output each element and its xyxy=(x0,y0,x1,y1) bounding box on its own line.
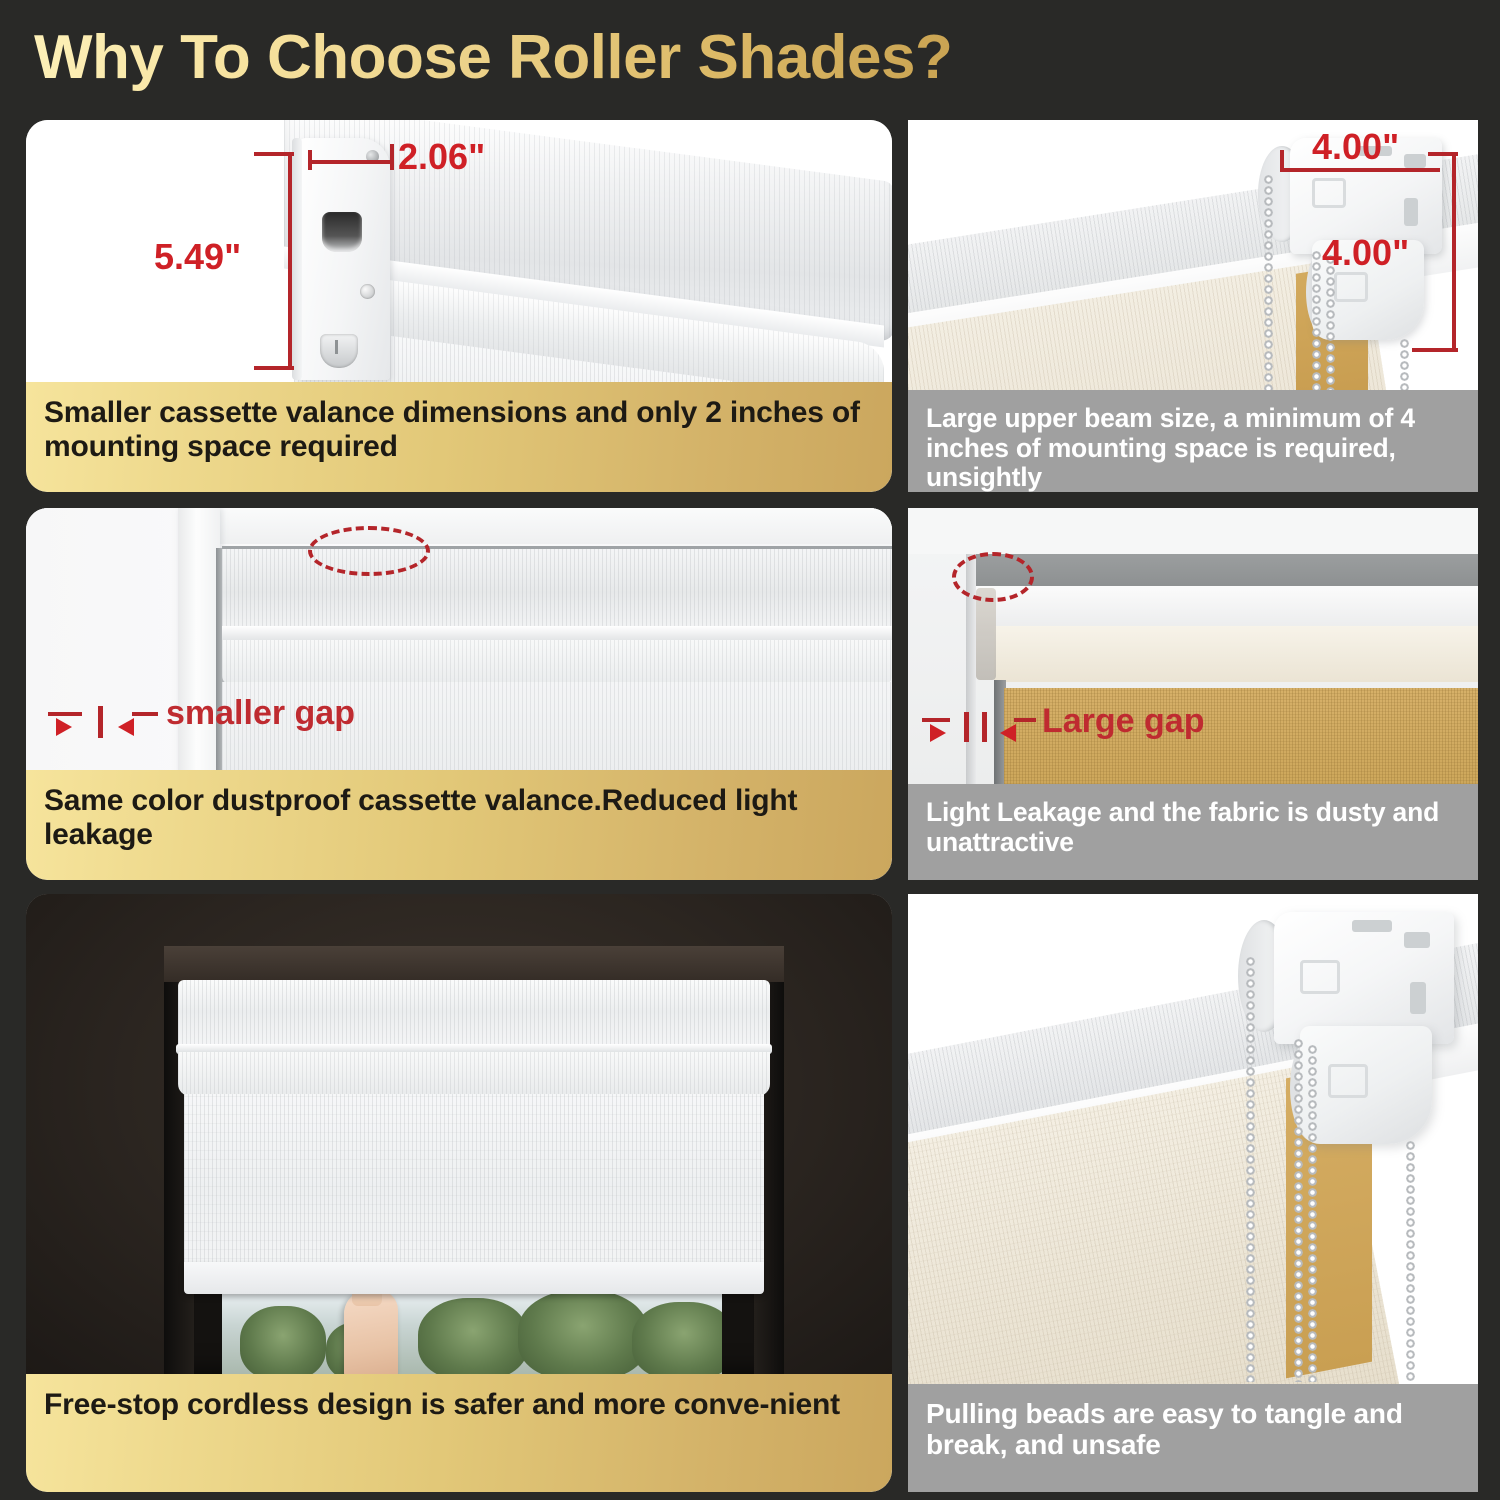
gap-highlight-ellipse xyxy=(952,552,1034,602)
roller-tube xyxy=(178,1052,770,1096)
panel-5-caption: Free-stop cordless design is safer and m… xyxy=(26,1374,892,1492)
gap-arrow-left-shaft xyxy=(132,712,158,716)
panel-cassette-dimensions: 2.06" 5.49" Smaller cassette valance dim… xyxy=(26,120,892,492)
bracket-lower-body xyxy=(1300,1026,1432,1144)
beam-width-line xyxy=(1280,168,1440,172)
bracket-notch-b xyxy=(1404,198,1418,226)
gap-arrow-right xyxy=(930,724,946,742)
bead-chain-3 xyxy=(1326,254,1335,390)
tree-3 xyxy=(418,1298,528,1374)
large-gap-label: Large gap xyxy=(1042,702,1204,741)
beam-width-label: 4.00" xyxy=(1312,126,1399,168)
shade-fabric xyxy=(184,1094,764,1268)
bead-chain-1 xyxy=(1264,174,1273,390)
bead-chain-4 xyxy=(1400,338,1409,390)
end-cap-screw-upper xyxy=(360,284,375,299)
panel-smaller-gap: smaller gap Same color dustproof cassett… xyxy=(26,508,892,880)
window-side-jamb xyxy=(178,508,220,775)
tree-4 xyxy=(518,1294,648,1374)
upper-beam-shadow xyxy=(966,554,1478,590)
gap-arrow-right xyxy=(56,718,72,736)
width-dimension-line xyxy=(308,160,394,164)
tree-1 xyxy=(240,1306,326,1374)
bracket-arrow-icon-upper xyxy=(1300,960,1340,994)
large-gap-illustration: Large gap xyxy=(908,508,1478,784)
cream-valance-bar xyxy=(994,626,1478,682)
gap-arrow-right-shaft xyxy=(48,712,82,716)
beam-height-line xyxy=(1452,152,1456,352)
smaller-gap-label: smaller gap xyxy=(166,694,355,733)
bead-chain-illustration xyxy=(908,894,1478,1384)
cassette-valance xyxy=(178,980,770,1046)
hand-grabbing-rail xyxy=(344,1290,398,1374)
panel-large-beam: 4.00" 4.00" Large upper beam size, a min… xyxy=(908,120,1478,492)
width-dimension-label: 2.06" xyxy=(398,136,485,178)
bead-chain-2 xyxy=(1312,250,1321,390)
bead-chain-3 xyxy=(1308,1044,1317,1382)
panel-2-caption: Large upper beam size, a minimum of 4 in… xyxy=(908,390,1478,492)
panel-1-photo: 2.06" 5.49" xyxy=(26,120,892,396)
cassette-end-cap xyxy=(298,138,390,380)
end-cap-screw-lower xyxy=(320,334,358,368)
panel-2-photo: 4.00" 4.00" xyxy=(908,120,1478,390)
panel-5-photo xyxy=(26,894,892,1374)
wall-top-band xyxy=(908,508,1478,554)
panel-4-caption: Light Leakage and the fabric is dusty an… xyxy=(908,784,1478,880)
bead-chain-1 xyxy=(1246,956,1255,1382)
gap-marker-bar-2 xyxy=(982,712,987,742)
bracket-notch-b xyxy=(1410,982,1426,1014)
panel-4-photo: Large gap xyxy=(908,508,1478,784)
gap-arrow-left-shaft xyxy=(1014,718,1036,722)
bracket-arrow-icon-lower xyxy=(1334,272,1368,302)
bracket-arrow-icon-upper xyxy=(1312,178,1346,208)
bracket-notch-c xyxy=(1352,920,1392,932)
panel-large-gap: Large gap Light Leakage and the fabric i… xyxy=(908,508,1478,880)
window-reveal-top xyxy=(164,946,784,982)
gap-highlight-ellipse xyxy=(308,526,430,576)
width-tick-right xyxy=(390,144,394,170)
bead-chain-2 xyxy=(1294,1038,1303,1382)
gap-marker-bar xyxy=(98,706,103,738)
comparison-grid: 2.06" 5.49" Smaller cassette valance dim… xyxy=(0,108,1500,1500)
panel-3-photo: smaller gap xyxy=(26,508,892,775)
beam-height-tick-bottom xyxy=(1412,348,1458,352)
bead-chain-4 xyxy=(1406,1140,1415,1382)
bracket-arrow-icon-lower xyxy=(1328,1064,1368,1098)
end-cap-slot xyxy=(322,212,362,252)
panel-1-caption: Smaller cassette valance dimensions and … xyxy=(26,382,892,492)
bracket-notch-a xyxy=(1404,932,1430,948)
height-dimension-line xyxy=(288,152,292,370)
gap-arrow-left xyxy=(1000,724,1016,742)
bottom-rail xyxy=(184,1262,764,1294)
gap-arrow-right-shaft xyxy=(922,718,950,722)
large-beam-bracket-illustration: 4.00" 4.00" xyxy=(908,120,1478,390)
gap-marker-bar-1 xyxy=(964,712,969,742)
height-tick-bottom xyxy=(254,366,294,370)
panel-6-caption: Pulling beads are easy to tangle and bre… xyxy=(908,1384,1478,1492)
gap-arrow-left xyxy=(118,718,134,736)
height-tick-top xyxy=(254,152,294,156)
window-head-trim xyxy=(178,508,892,544)
tree-5 xyxy=(632,1302,722,1374)
panel-6-photo xyxy=(908,894,1478,1384)
smaller-gap-illustration: smaller gap xyxy=(26,508,892,775)
height-dimension-label: 5.49" xyxy=(154,236,241,278)
panel-3-caption: Same color dustproof cassette valance.Re… xyxy=(26,770,892,880)
bracket-notch-a xyxy=(1404,154,1426,168)
beam-height-tick-top xyxy=(1428,152,1458,156)
roller-tube xyxy=(222,640,892,684)
outdoor-view xyxy=(222,1294,722,1374)
panel-cordless-design: Free-stop cordless design is safer and m… xyxy=(26,894,892,1492)
page-title: Why To Choose Roller Shades? xyxy=(34,22,952,93)
beam-height-label: 4.00" xyxy=(1322,232,1409,274)
window-scene-illustration xyxy=(26,894,892,1374)
panel-pulling-beads: Pulling beads are easy to tangle and bre… xyxy=(908,894,1478,1492)
cassette-valance-illustration: 2.06" 5.49" xyxy=(26,120,892,396)
bracket-upper-body xyxy=(1274,912,1454,1044)
